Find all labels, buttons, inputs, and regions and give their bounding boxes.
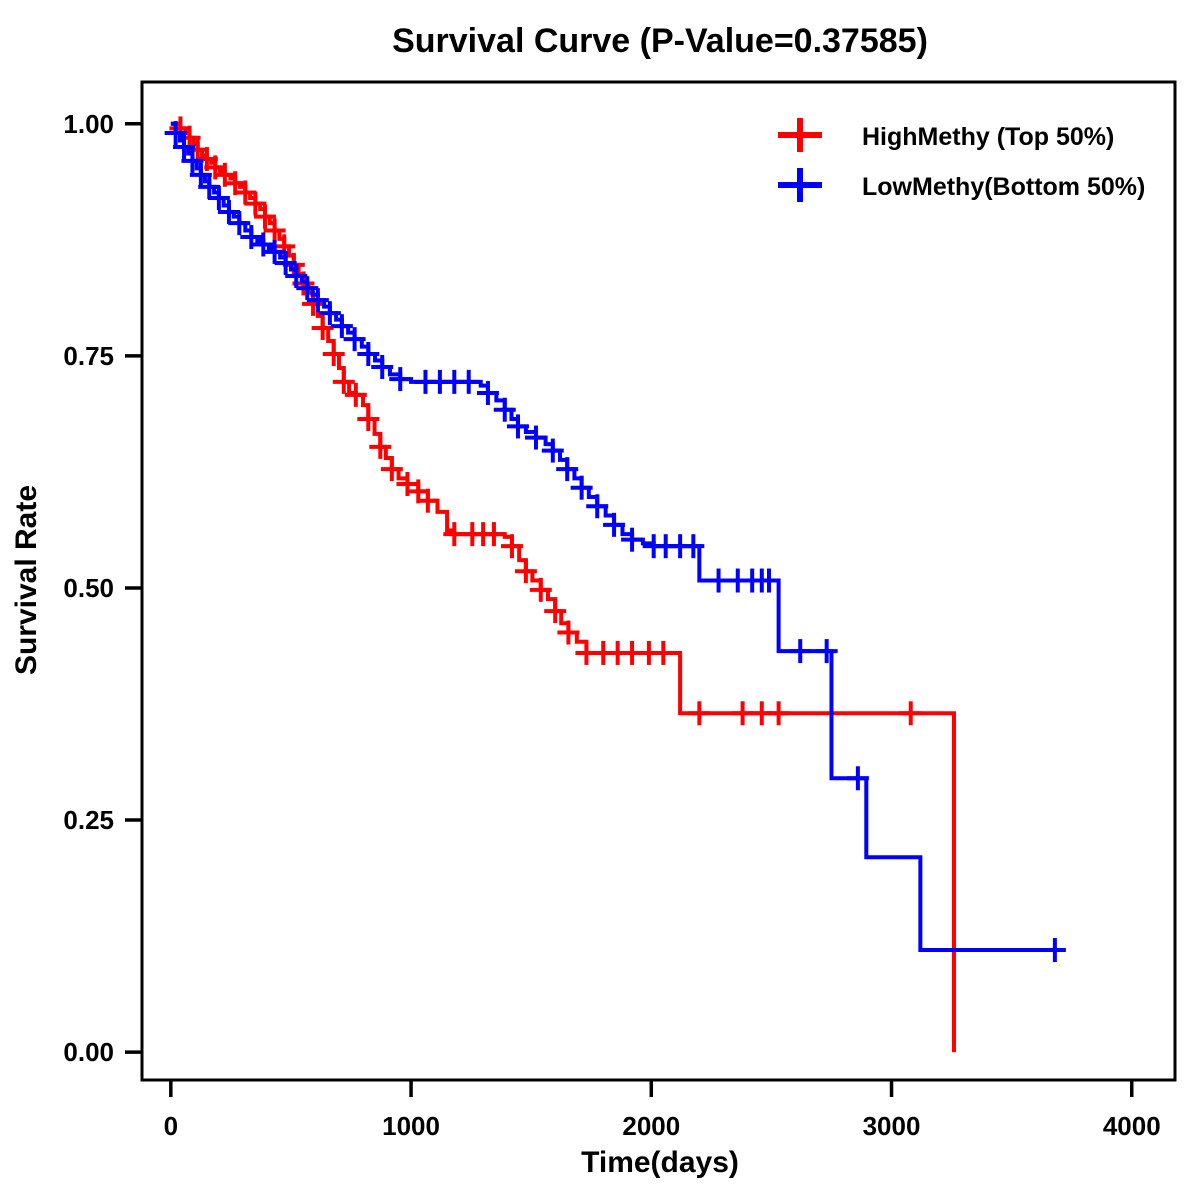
x-tick-label: 0: [164, 1111, 178, 1141]
y-tick-label: 0.25: [63, 805, 114, 835]
y-tick-label: 1.00: [63, 109, 114, 139]
x-tick-label: 1000: [382, 1111, 440, 1141]
y-axis-label: Survival Rate: [10, 485, 43, 675]
x-tick-label: 3000: [863, 1111, 921, 1141]
legend-label: LowMethy(Bottom 50%): [862, 173, 1145, 201]
x-axis-label: Time(days): [581, 1146, 739, 1179]
y-tick-label: 0.75: [63, 341, 114, 371]
y-tick-label: 0.00: [63, 1037, 114, 1067]
y-tick-label: 0.50: [63, 573, 114, 603]
legend-label: HighMethy (Top 50%): [862, 123, 1114, 151]
survival-curve-figure: Survival Curve (P-Value=0.37585) 0100020…: [0, 0, 1200, 1200]
survival-plot-svg: Survival Curve (P-Value=0.37585) 0100020…: [0, 0, 1200, 1200]
page-title: Survival Curve (P-Value=0.37585): [392, 22, 928, 60]
x-tick-label: 4000: [1103, 1111, 1161, 1141]
x-tick-label: 2000: [622, 1111, 680, 1141]
